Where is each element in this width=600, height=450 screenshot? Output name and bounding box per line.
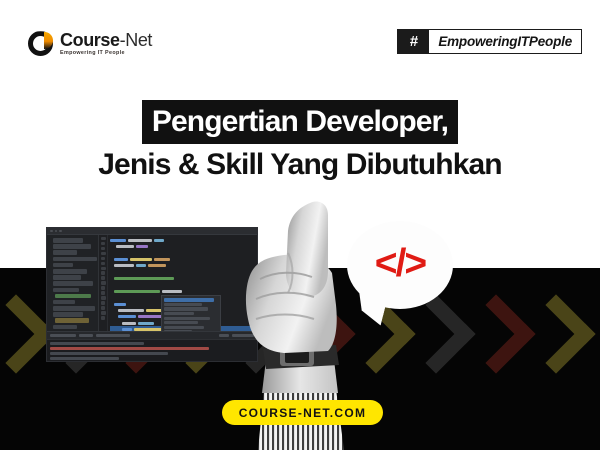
editor-body (47, 235, 257, 331)
file-tree-item (53, 275, 81, 280)
code-token (148, 264, 166, 267)
code-token (122, 328, 132, 331)
status-segment (96, 334, 130, 337)
line-number (101, 242, 105, 245)
file-tree-item (53, 250, 77, 255)
code-token (154, 239, 164, 242)
line-number (101, 247, 105, 250)
file-tree-item (53, 300, 75, 305)
line-number (101, 316, 105, 319)
headline-line1: Pengertian Developer, (142, 100, 458, 144)
hashtag-badge: # EmpoweringITPeople (397, 29, 582, 54)
code-token (136, 264, 146, 267)
autocomplete-item (164, 298, 214, 301)
window-dot (55, 230, 58, 233)
code-token (110, 239, 126, 242)
line-number (101, 311, 106, 314)
console-error-line (50, 347, 209, 350)
status-segment (219, 334, 229, 337)
code-token (138, 315, 162, 318)
autocomplete-item (164, 330, 192, 331)
line-number (101, 252, 106, 255)
line-number (101, 286, 105, 289)
autocomplete-item (164, 307, 208, 310)
code-token (114, 303, 126, 306)
autocomplete-item (164, 321, 198, 324)
logo-text-block: Course-Net Empowering IT People (60, 31, 152, 56)
file-tree-item (53, 238, 83, 243)
file-tree-item (53, 281, 93, 286)
window-dot (50, 230, 53, 233)
line-number (101, 262, 105, 265)
code-token (114, 264, 134, 267)
window-dot (59, 230, 62, 233)
code-token (114, 290, 160, 293)
file-tree-item (53, 306, 95, 311)
code-tag-icon: </> (375, 242, 425, 286)
line-number (101, 306, 105, 309)
console-line (50, 352, 168, 355)
code-token (136, 245, 148, 248)
status-segment (79, 334, 93, 337)
file-tree-item (53, 312, 83, 317)
file-tree-item (53, 325, 77, 330)
editor-line-numbers (99, 235, 108, 331)
code-token (114, 277, 174, 280)
autocomplete-item (164, 303, 202, 306)
file-tree-item (53, 269, 87, 274)
file-tree-item (53, 288, 79, 293)
logo-name-bold: Course (60, 30, 120, 50)
headline-line1-wrap: Pengertian Developer, (0, 100, 600, 144)
logo-name: Course-Net (60, 31, 152, 49)
code-editor-window (46, 227, 258, 362)
code-token (116, 245, 134, 248)
course-net-circle-logo-icon (28, 31, 53, 56)
brand-logo: Course-Net Empowering IT People (28, 31, 152, 56)
editor-console-panel (47, 339, 257, 361)
code-token (138, 322, 154, 325)
logo-name-light: -Net (120, 30, 152, 50)
editor-titlebar (47, 228, 257, 235)
file-tree-item (55, 294, 91, 299)
headline-line2-wrap: Jenis & Skill Yang Dibutuhkan (0, 144, 600, 180)
editor-statusbar (47, 331, 257, 339)
line-number (101, 271, 105, 274)
logo-tagline: Empowering IT People (60, 51, 152, 56)
website-url-label: COURSE-NET.COM (239, 406, 367, 420)
autocomplete-item (164, 326, 204, 329)
hashtag-label: EmpoweringITPeople (429, 30, 581, 53)
status-segment (50, 334, 76, 337)
headline-line2: Jenis & Skill Yang Dibutuhkan (92, 149, 507, 180)
file-tree-item (53, 263, 73, 268)
code-token (118, 315, 136, 318)
console-line (50, 342, 144, 345)
code-token (154, 258, 170, 261)
autocomplete-item (164, 312, 194, 315)
line-number (101, 281, 106, 284)
file-tree-item (55, 318, 89, 323)
editor-autocomplete-popup (161, 295, 221, 331)
line-number (101, 237, 106, 240)
page-title: Pengertian Developer, Jenis & Skill Yang… (0, 100, 600, 180)
chevron-shape (576, 294, 600, 373)
code-token (122, 322, 136, 325)
console-line (50, 357, 119, 360)
line-number (101, 301, 105, 304)
code-token (162, 290, 182, 293)
line-number (101, 296, 106, 299)
poster-canvas: Course-Net Empowering IT People # Empowe… (0, 0, 600, 450)
line-number (101, 291, 105, 294)
line-number (101, 276, 105, 279)
line-number (101, 257, 105, 260)
code-token (114, 258, 128, 261)
autocomplete-item (164, 317, 210, 320)
website-url-pill[interactable]: COURSE-NET.COM (222, 400, 383, 425)
file-tree-item (53, 244, 91, 249)
line-number (101, 267, 106, 270)
code-token (128, 239, 152, 242)
editor-file-tree (47, 235, 99, 331)
code-token (130, 258, 152, 261)
hash-symbol-icon: # (398, 30, 429, 53)
code-token (118, 309, 144, 312)
file-tree-item (53, 257, 97, 262)
